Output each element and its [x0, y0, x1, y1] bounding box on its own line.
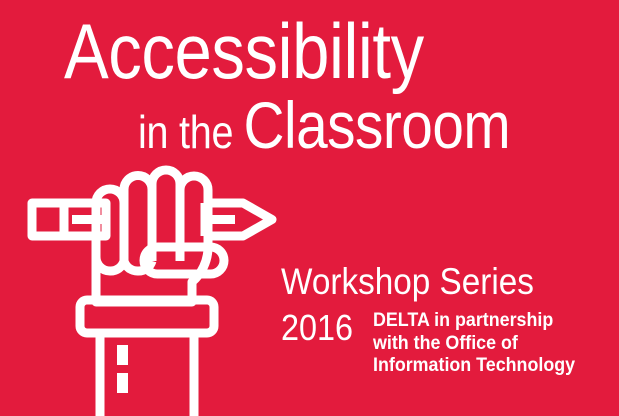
org-line-3: Information Technology — [373, 355, 575, 378]
org-line-1: DELTA in partnership — [373, 310, 575, 333]
year-label: 2016 — [281, 310, 353, 346]
organization-lines: DELTA in partnership with the Office of … — [373, 310, 575, 378]
title-line-in-the-classroom: in theClassroom — [138, 95, 510, 162]
workshop-series-label: Workshop Series — [281, 262, 534, 302]
cuff-buttons — [117, 345, 128, 393]
year-and-organization: 2016 DELTA in partnership with the Offic… — [281, 310, 588, 378]
fist-holding-pencil-graphic — [20, 160, 300, 416]
fist-holding-pencil-icon — [20, 160, 300, 416]
cuff-button-2 — [117, 373, 128, 393]
accessibility-workshop-poster: Accessibility in theClassroom Workshop S… — [0, 0, 619, 416]
cuff-button-1 — [117, 345, 128, 365]
title-classroom: Classroom — [244, 88, 511, 162]
title-line-accessibility: Accessibility — [64, 12, 424, 90]
title-in-the: in the — [138, 106, 233, 158]
org-line-2: with the Office of — [373, 333, 575, 356]
